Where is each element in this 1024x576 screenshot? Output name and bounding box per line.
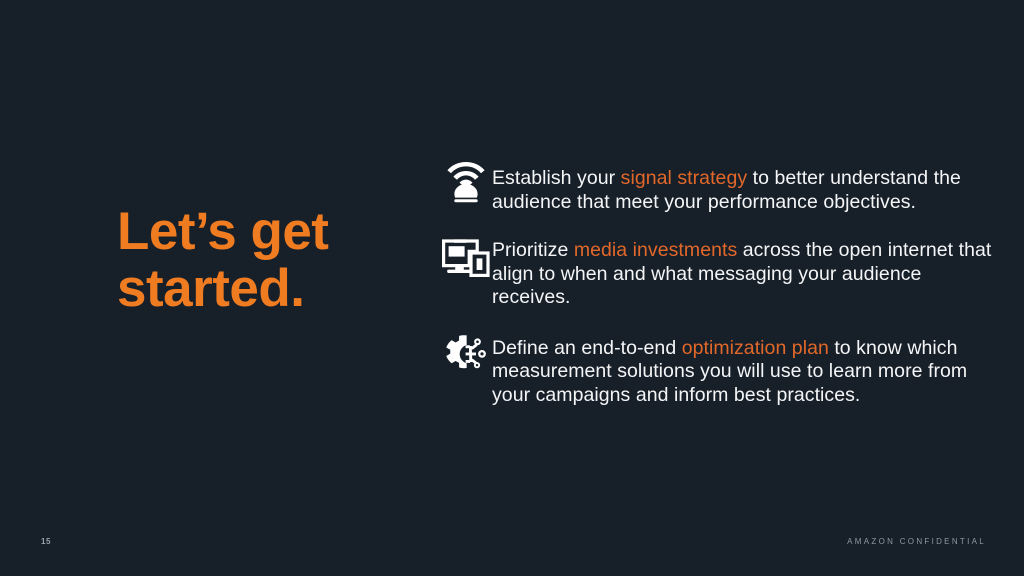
bullet-list: Establish your signal strategy to better…: [440, 155, 995, 407]
list-item-text: Define an end-to-end optimization plan t…: [492, 330, 995, 408]
confidentiality-notice: AMAZON CONFIDENTIAL: [847, 537, 986, 546]
list-item-text: Establish your signal strategy to better…: [492, 155, 995, 214]
highlight-phrase: optimization plan: [682, 337, 829, 359]
text-segment: Establish your: [492, 167, 621, 189]
text-segment: Prioritize: [492, 239, 574, 261]
list-item: Establish your signal strategy to better…: [440, 155, 995, 214]
gear-circuit-icon: [440, 330, 492, 380]
page-title: Let’s get started.: [117, 203, 437, 317]
text-segment: Define an end-to-end: [492, 337, 682, 359]
monitor-tablet-icon: [440, 234, 492, 284]
list-item: Prioritize media investments across the …: [440, 234, 995, 310]
highlight-phrase: signal strategy: [621, 167, 747, 189]
list-item-text: Prioritize media investments across the …: [492, 234, 995, 310]
slide-canvas: Let’s get started. Establish your signal…: [0, 0, 1024, 576]
list-item: Define an end-to-end optimization plan t…: [440, 330, 995, 408]
signal-beacon-icon: [440, 155, 492, 205]
page-number: 15: [41, 537, 51, 546]
highlight-phrase: media investments: [574, 239, 737, 261]
